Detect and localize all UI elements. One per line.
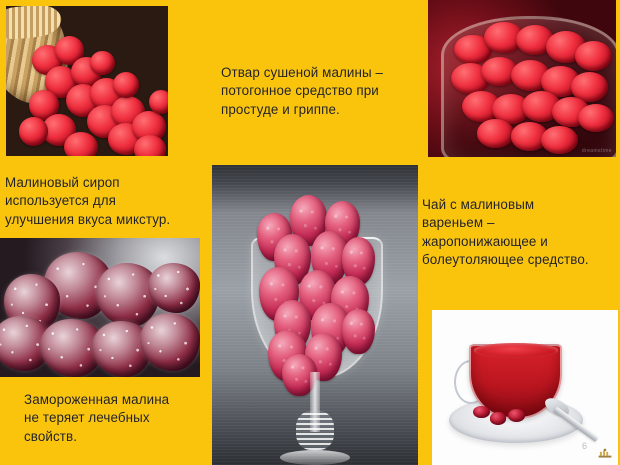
image-raspberries-in-glass-bowl: dreamstime [428, 0, 616, 157]
image-raspberries-in-wine-glass [212, 165, 418, 465]
presentation-logo-icon [597, 448, 613, 462]
wine-glass-foot [280, 450, 350, 465]
caption-tea: Чай с малиновым вареньем – жаропонижающе… [422, 196, 618, 269]
wine-glass-stem-rings [296, 411, 333, 450]
basket-berry-cluster [6, 6, 168, 156]
caption-decoction: Отвар сушеной малины – потогонное средст… [221, 64, 426, 119]
caption-frozen: Замороженная малина не теряет лечебных с… [24, 391, 209, 446]
image-raspberry-tea-cup: 6 [432, 310, 618, 465]
image-raspberries-in-wicker-basket [6, 6, 168, 156]
stock-photo-watermark: dreamstime [582, 148, 612, 154]
caption-syrup: Малиновый сироп используется для улучшен… [5, 174, 205, 229]
page-number: 6 [582, 441, 587, 451]
image-frozen-raspberries [0, 238, 200, 377]
slide-canvas: dreamstime [0, 0, 620, 465]
tea-liquid-surface [474, 343, 558, 357]
